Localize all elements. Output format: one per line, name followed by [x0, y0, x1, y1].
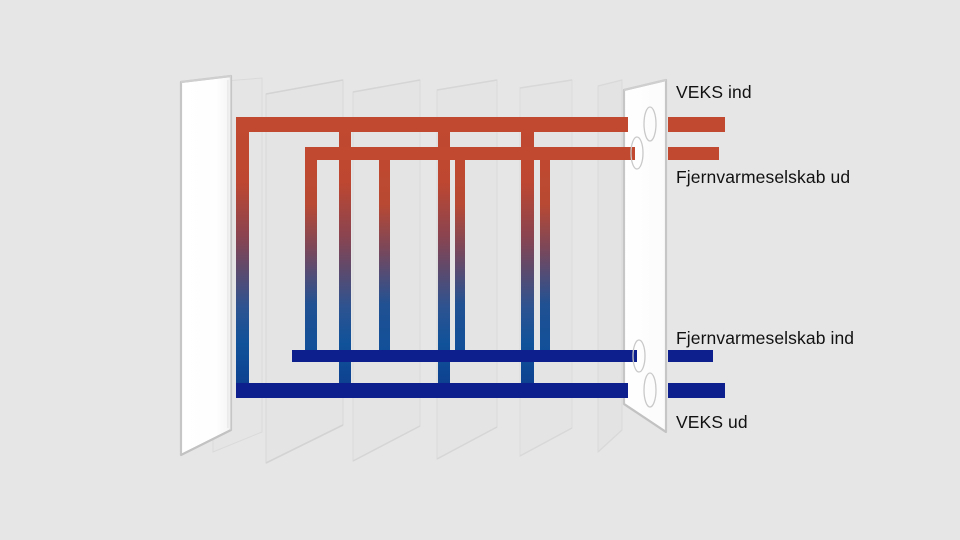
- veks-ud-main-pipe-outside: [668, 383, 725, 398]
- label-fjernvarmeselskab-ind: Fjernvarmeselskab ind: [676, 328, 854, 349]
- veks-ud-main-pipe: [236, 383, 628, 398]
- riser-6: [455, 153, 465, 358]
- fjv-ind-branch-pipe: [292, 350, 637, 362]
- veks-ind-main-pipe: [236, 117, 628, 132]
- fjv-ind-branch-pipe-outside: [668, 350, 713, 362]
- diagram-canvas: VEKS ind Fjernvarmeselskab ud Fjernvarme…: [0, 0, 960, 540]
- veks-ind-main-pipe-outside: [668, 117, 725, 132]
- riser-1: [236, 124, 249, 392]
- ghost-slab-2: [266, 80, 343, 463]
- fjv-ud-branch-pipe: [305, 147, 635, 160]
- label-veks-ind: VEKS ind: [676, 82, 752, 103]
- label-veks-ud: VEKS ud: [676, 412, 748, 433]
- perspective-pipe-scene: [0, 0, 960, 540]
- riser-4: [379, 153, 390, 358]
- fjv-ud-branch-pipe-outside: [668, 147, 719, 160]
- label-fjernvarmeselskab-ud: Fjernvarmeselskab ud: [676, 167, 850, 188]
- ghost-floor-slabs: [213, 78, 622, 463]
- riser-2: [305, 153, 317, 358]
- near-floor-slab: [181, 76, 231, 455]
- riser-8: [540, 153, 550, 358]
- near-slab-edge-highlight: [228, 76, 231, 430]
